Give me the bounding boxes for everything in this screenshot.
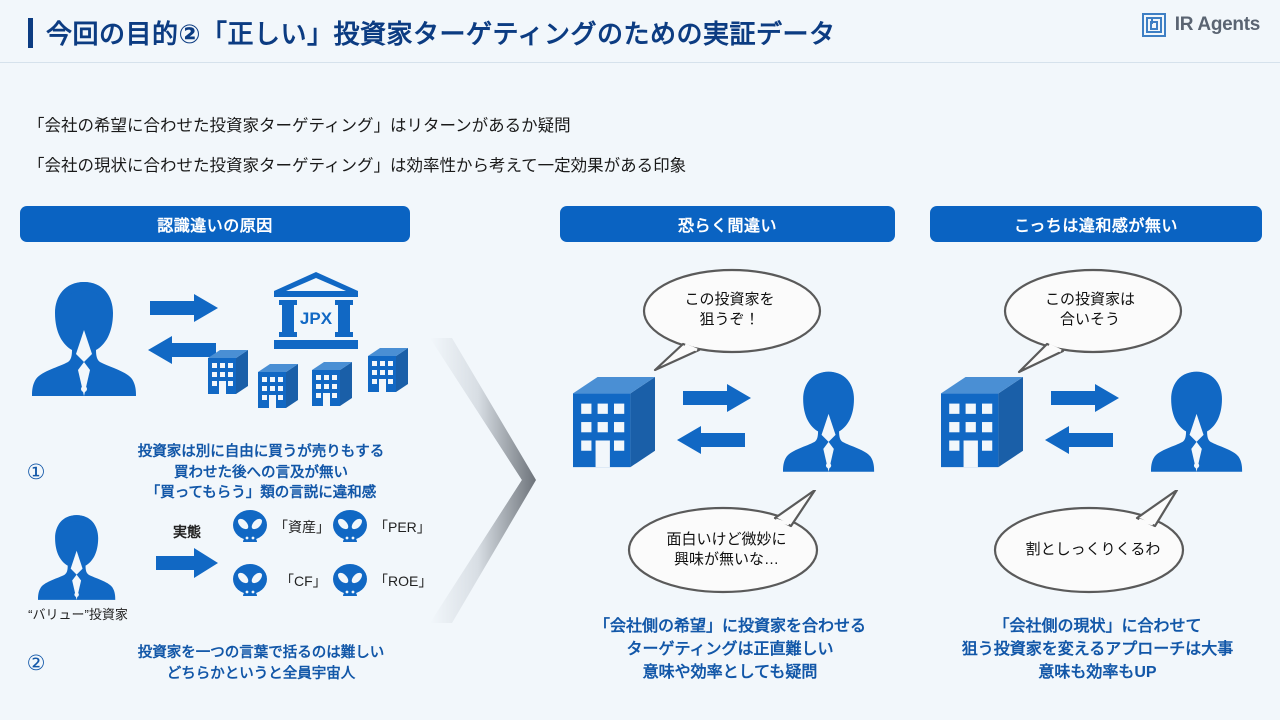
arrow-left-icon [148,336,216,369]
arrow-right-icon [150,294,218,327]
company-building-icon [312,360,352,411]
company-building-icon [941,372,1023,473]
item-1-line-1: 投資家は別に自由に買うが売りもする [72,442,450,463]
svg-text:JPX: JPX [300,309,333,328]
investor-person-icon [1151,368,1243,477]
right-caption-line-2: 狙う投資家を変えるアプローチは大事 [915,638,1280,661]
speech-bubble-bottom-middle: 面白いけど微妙に 興味が無いな… [623,490,830,598]
arrow-right-icon [1051,384,1119,417]
alien-head-icon [232,564,268,603]
title-label: 今回の目的②「正しい」投資家ターゲティングのための実証データ [46,14,835,51]
arrow-left-icon [677,426,745,459]
item-2-number: ② [0,651,72,676]
speech-bubble-top-middle: この投資家を 狙うぞ！ [637,266,822,371]
company-building-icon [368,346,408,397]
slide-root: 今回の目的②「正しい」投資家ターゲティングのための実証データ IR Agents… [0,0,1280,720]
section-header-middle: 恐らく間違い [560,206,895,242]
left-panel: JPX [0,250,460,720]
section-header-right: こっちは違和感が無い [930,206,1262,242]
header-divider [0,62,1280,63]
item-2-line-1: 投資家を一つの言葉で括るのは難しい [72,643,450,664]
speech-bubble-bottom-right: 割としっくりくるわ [987,490,1199,598]
company-building-icon [208,348,248,399]
right-caption-line-3: 意味も効率もUP [915,661,1280,684]
middle-caption-line-2: ターゲティングは正直難しい [545,638,915,661]
jittai-label: 実態 [152,522,222,542]
brand-logo: IR Agents [1142,13,1260,37]
company-building-icon [573,372,655,473]
right-caption: 「会社側の現状」に合わせて 狙う投資家を変えるアプローチは大事 意味も効率もUP [915,615,1280,685]
section-header-left: 認識違いの原因 [20,206,410,242]
investor-person-icon [783,368,875,477]
alien-label-4: 「ROE」 [374,571,432,591]
right-diagram [933,368,1263,483]
page-title: 今回の目的②「正しい」投資家ターゲティングのための実証データ [28,14,835,51]
investor-person-icon [32,278,137,401]
jpx-exchange-building-icon: JPX [272,272,360,359]
arrow-right-icon [683,384,751,417]
right-caption-line-1: 「会社側の現状」に合わせて [915,615,1280,638]
item-1-line-2: 買わせた後への言及が無い [72,463,450,484]
value-investor-person-icon [38,512,116,605]
arrow-left-icon [1045,426,1113,459]
left-item-2: ② 投資家を一つの言葉で括るのは難しい どちらかというと全員宇宙人 [0,643,450,684]
alien-label-1: 「資産」 [274,517,330,537]
lead-line-2: 「会社の現状に合わせた投資家ターゲティング」は効率性から考えて一定効果がある印象 [28,152,686,176]
middle-panel: この投資家を 狙うぞ！ [545,250,915,720]
middle-caption: 「会社側の希望」に投資家を合わせる ターゲティングは正直難しい 意味や効率として… [545,615,915,685]
left-diagram-investor-exchange: JPX [10,270,450,410]
speech-bubble-top-right: この投資家は 合いそう [995,266,1185,374]
item-1-number: ① [0,460,72,485]
middle-caption-line-3: 意味や効率としても疑問 [545,661,915,684]
item-1-line-3: 「買ってもらう」類の言説に違和感 [72,483,450,504]
spiral-square-logo-icon [1142,13,1166,37]
company-building-icon [258,362,298,413]
left-diagram-value-investor: “バリュー”投資家 実態 「資産」 [10,508,450,633]
title-accent-bar [28,18,33,48]
value-investor-caption: “バリュー”投資家 [10,604,146,623]
alien-label-3: 「CF」 [280,571,327,591]
middle-diagram [565,368,895,483]
right-panel: この投資家は 合いそう [915,250,1280,720]
item-2-line-2: どちらかというと全員宇宙人 [72,664,450,685]
middle-caption-line-1: 「会社側の希望」に投資家を合わせる [545,615,915,638]
alien-head-icon [332,510,368,549]
alien-head-icon [232,510,268,549]
logo-label: IR Agents [1175,14,1260,36]
alien-label-2: 「PER」 [374,517,431,537]
left-item-1: ① 投資家は別に自由に買うが売りもする 買わせた後への言及が無い 「買ってもらう… [0,442,450,504]
alien-head-icon [332,564,368,603]
arrow-right-icon [156,548,218,583]
lead-line-1: 「会社の希望に合わせた投資家ターゲティング」はリターンがあるか疑問 [28,112,571,136]
